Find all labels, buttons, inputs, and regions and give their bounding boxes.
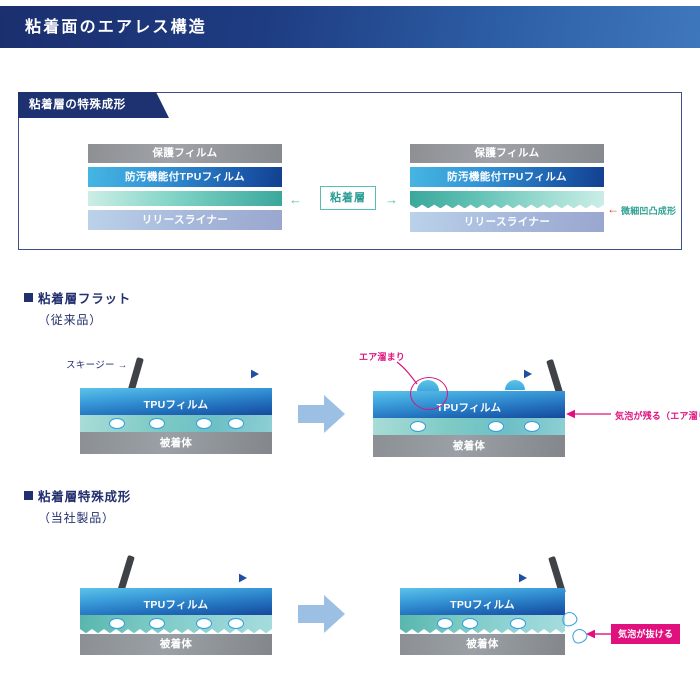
specimen-tpu-layer: TPUフィルム: [80, 588, 272, 615]
specimen-substrate-layer: 被着体: [373, 435, 565, 457]
air-bubble: [149, 618, 165, 629]
arrow-right-icon: →: [385, 193, 398, 206]
specimen-substrate-layer: 被着体: [400, 633, 565, 655]
textured-after-specimen: TPUフィルム 被着体: [400, 588, 565, 655]
layer-adhesive-textured: [410, 191, 604, 208]
micro-texture-wave-icon: [80, 626, 272, 634]
process-direction-arrow-icon: [140, 572, 248, 584]
specimen-substrate-label: 被着体: [160, 437, 192, 449]
textured-adhesive-stack: 保護フィルム 防汚機能付TPUフィルム リリースライナー: [410, 144, 604, 232]
air-pocket-dome: [505, 380, 525, 390]
adhesive-layer-callout: 粘着層: [320, 186, 376, 210]
air-bubble: [109, 418, 125, 429]
specimen-adhesive-textured-layer: [400, 615, 565, 633]
air-bubble: [228, 418, 244, 429]
panel-tab-label: 粘着層の特殊成形: [18, 92, 156, 118]
flat-before-specimen: TPUフィルム 被着体: [80, 388, 272, 454]
air-pocket-highlight-circle: [410, 377, 448, 410]
air-bubble: [410, 421, 426, 432]
bubbles-remain-arrow-icon: [565, 408, 612, 420]
layer-tpu-film: 防汚機能付TPUフィルム: [88, 167, 282, 187]
air-bubble: [228, 618, 244, 629]
specimen-substrate-layer: 被着体: [80, 432, 272, 454]
section-flat-subheading: （従来品）: [38, 311, 102, 328]
air-bubble: [196, 618, 212, 629]
layer-release-liner-label: リリースライナー: [410, 212, 604, 232]
air-bubble: [437, 618, 453, 629]
section-flat-heading: 粘着層フラット: [24, 288, 131, 307]
air-bubble: [109, 618, 125, 629]
transition-arrow-icon: [298, 394, 346, 434]
square-bullet-icon: [24, 293, 33, 302]
layer-release-liner: リリースライナー: [88, 210, 282, 230]
section-textured-subheading: （当社製品）: [38, 509, 115, 526]
specimen-substrate-label: 被着体: [453, 440, 485, 452]
specimen-tpu-label: TPUフィルム: [144, 599, 209, 611]
layer-protective-film-label: 保護フィルム: [88, 144, 282, 163]
air-bubble: [149, 418, 165, 429]
air-bubble: [510, 618, 526, 629]
specimen-substrate-layer: 被着体: [80, 633, 272, 655]
layer-adhesive-flat: [88, 191, 282, 206]
specimen-substrate-label: 被着体: [160, 638, 192, 650]
specimen-adhesive-textured-layer: [80, 615, 272, 633]
squeegee-label: スキージー →: [66, 357, 128, 371]
transition-arrow-icon: [298, 594, 346, 634]
specimen-adhesive-layer: [80, 415, 272, 432]
layer-protective-film: 保護フィルム: [410, 144, 604, 163]
specimen-substrate-label: 被着体: [466, 638, 498, 650]
bubbles-escape-annotation-label: 気泡が抜ける: [611, 624, 680, 644]
micro-texture-wave-icon: [400, 626, 565, 634]
layer-release-liner-label: リリースライナー: [88, 210, 282, 230]
layer-tpu-film-label: 防汚機能付TPUフィルム: [410, 167, 604, 187]
air-bubble: [462, 618, 478, 629]
air-bubble: [196, 418, 212, 429]
micro-texture-wave-icon: [410, 202, 604, 209]
specimen-tpu-label: TPUフィルム: [437, 402, 502, 414]
bubbles-remain-annotation-label: 気泡が残る（エア溜り）: [615, 409, 700, 422]
square-bullet-icon: [24, 491, 33, 500]
specimen-tpu-label: TPUフィルム: [450, 599, 515, 611]
micro-texture-arrow-icon: ←: [607, 203, 619, 215]
layer-protective-film-label: 保護フィルム: [410, 144, 604, 163]
layer-tpu-film: 防汚機能付TPUフィルム: [410, 167, 604, 187]
layer-release-liner: リリースライナー: [410, 212, 604, 232]
air-bubble: [488, 421, 504, 432]
micro-texture-label: 微細凹凸成形: [621, 204, 676, 217]
arrow-left-icon: ←: [289, 193, 302, 206]
section-textured-heading: 粘着層特殊成形: [24, 486, 131, 505]
section-textured-heading-text: 粘着層特殊成形: [38, 490, 131, 504]
textured-before-specimen: TPUフィルム 被着体: [80, 588, 272, 655]
layer-protective-film: 保護フィルム: [88, 144, 282, 163]
bubbles-escape-arrow-icon: [586, 628, 612, 640]
process-direction-arrow-icon: [420, 572, 528, 584]
specimen-adhesive-layer: [373, 418, 565, 435]
air-bubble: [524, 421, 540, 432]
specimen-tpu-label: TPUフィルム: [144, 399, 209, 411]
process-direction-arrow-icon: [150, 368, 260, 380]
specimen-tpu-layer: TPUフィルム: [400, 588, 565, 615]
page-title: 粘着面のエアレス構造: [25, 13, 207, 37]
flat-adhesive-stack: 保護フィルム 防汚機能付TPUフィルム リリースライナー: [88, 144, 282, 230]
layer-tpu-film-label: 防汚機能付TPUフィルム: [88, 167, 282, 187]
specimen-tpu-layer: TPUフィルム: [80, 388, 272, 415]
section-flat-heading-text: 粘着層フラット: [38, 292, 131, 306]
